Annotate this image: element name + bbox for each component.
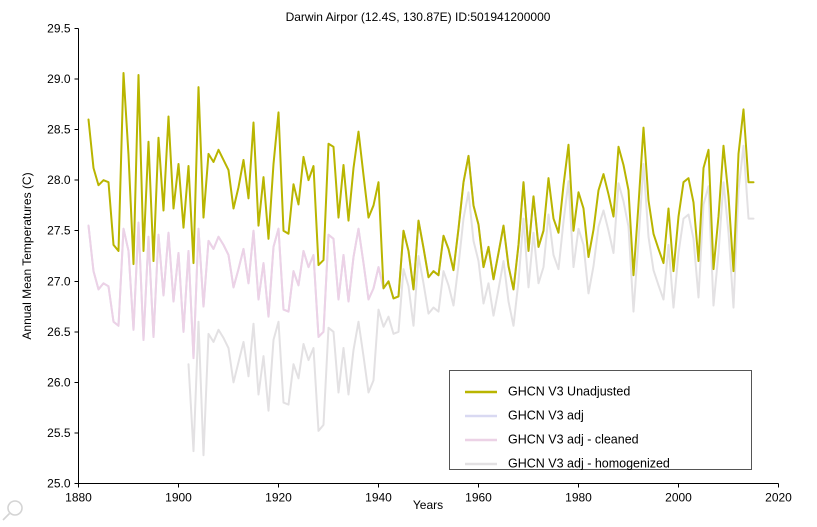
magnifier-icon[interactable] — [3, 501, 22, 520]
y-tick-label: 29.5 — [47, 22, 71, 36]
y-tick-label: 29.0 — [47, 72, 71, 86]
y-tick-label: 25.5 — [47, 426, 71, 440]
y-tick-label: 26.5 — [47, 325, 71, 339]
temperature-line-chart: Darwin Airpor (12.4S, 130.87E) ID:501941… — [0, 0, 817, 527]
x-tick-label: 1980 — [565, 491, 592, 505]
y-tick-label: 25.0 — [47, 477, 71, 491]
legend-label: GHCN V3 adj - cleaned — [508, 432, 639, 446]
x-tick-label: 2000 — [665, 491, 692, 505]
y-tick-label: 28.0 — [47, 173, 71, 187]
x-axis-title: Years — [413, 498, 443, 512]
legend-label: GHCN V3 Unadjusted — [508, 384, 630, 398]
chart-figure: Darwin Airpor (12.4S, 130.87E) ID:501941… — [0, 0, 817, 527]
y-tick-label: 27.0 — [47, 274, 71, 288]
y-axis-ticks: 25.025.526.026.527.027.528.028.529.029.5 — [47, 22, 78, 491]
x-tick-label: 1900 — [165, 491, 192, 505]
y-tick-label: 27.5 — [47, 224, 71, 238]
y-axis-title: Annual Mean Temperatures (C) — [20, 172, 34, 339]
chart-title: Darwin Airpor (12.4S, 130.87E) ID:501941… — [286, 10, 551, 24]
x-tick-label: 1940 — [365, 491, 392, 505]
x-tick-label: 1960 — [465, 491, 492, 505]
y-tick-label: 26.0 — [47, 375, 71, 389]
legend-label: GHCN V3 adj - homogenized — [508, 456, 670, 470]
legend-label: GHCN V3 adj — [508, 408, 584, 422]
x-tick-label: 1880 — [65, 491, 92, 505]
x-tick-label: 2020 — [765, 491, 792, 505]
chart-legend[interactable]: GHCN V3 UnadjustedGHCN V3 adjGHCN V3 adj… — [450, 371, 752, 471]
x-tick-label: 1920 — [265, 491, 292, 505]
y-tick-label: 28.5 — [47, 123, 71, 137]
